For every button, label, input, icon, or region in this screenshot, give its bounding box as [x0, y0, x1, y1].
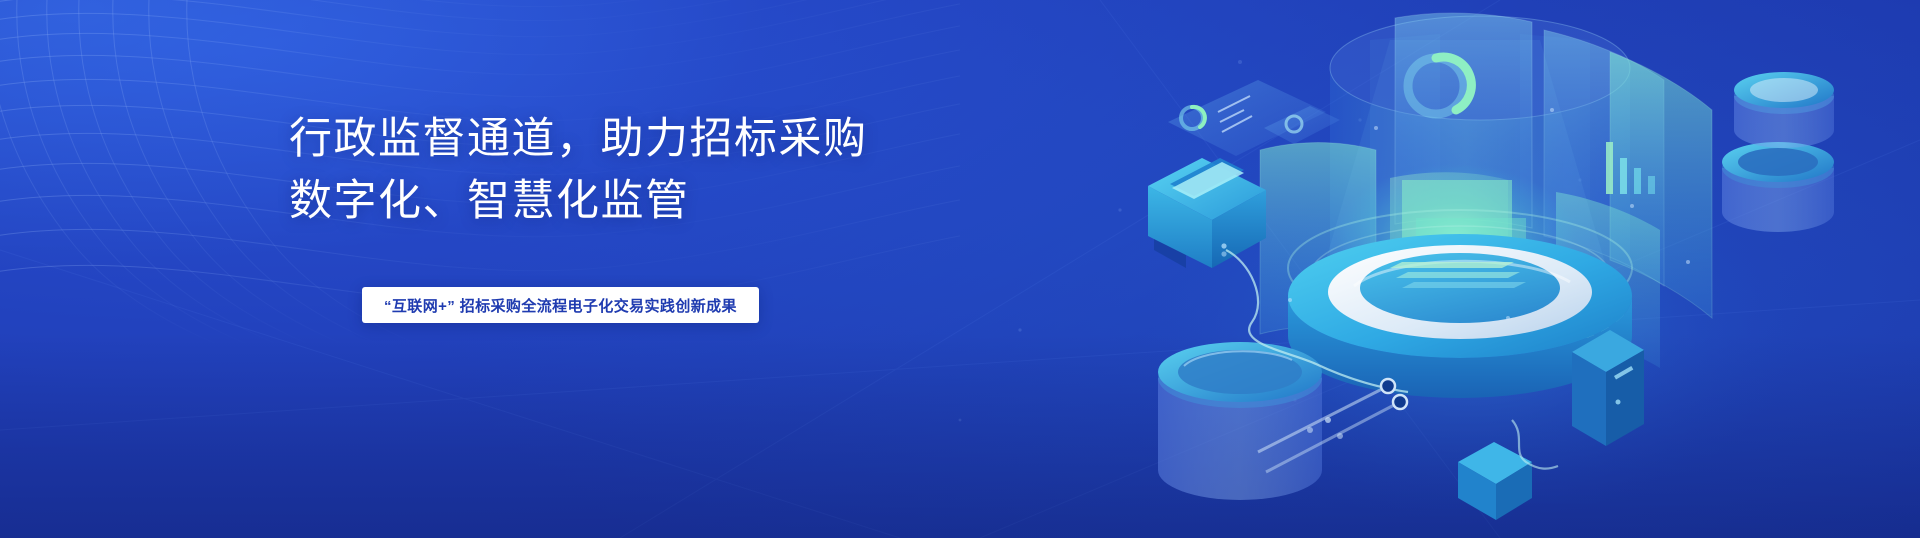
headline-line-2: 数字化、智慧化监管 — [289, 170, 1049, 232]
headline-block: 行政监督通道，助力招标采购 数字化、智慧化监管 — [289, 108, 1049, 232]
server-box — [1572, 330, 1644, 446]
cylinder-tank-small — [1722, 142, 1834, 232]
achievement-badge[interactable]: “互联网+” 招标采购全流程电子化交易实践创新成果 — [362, 287, 759, 323]
cylinder-tank-large — [1158, 342, 1322, 500]
data-sheets — [1390, 262, 1526, 288]
hero-banner: 行政监督通道，助力招标采购 数字化、智慧化监管 “互联网+” 招标采购全流程电子… — [0, 0, 1920, 538]
isometric-data-platform-illustration — [1140, 0, 1920, 538]
achievement-badge-label: “互联网+” 招标采购全流程电子化交易实践创新成果 — [384, 295, 737, 316]
headline-line-1: 行政监督通道，助力招标采购 — [289, 108, 1049, 170]
cylinder-tank-small-2 — [1734, 72, 1834, 148]
